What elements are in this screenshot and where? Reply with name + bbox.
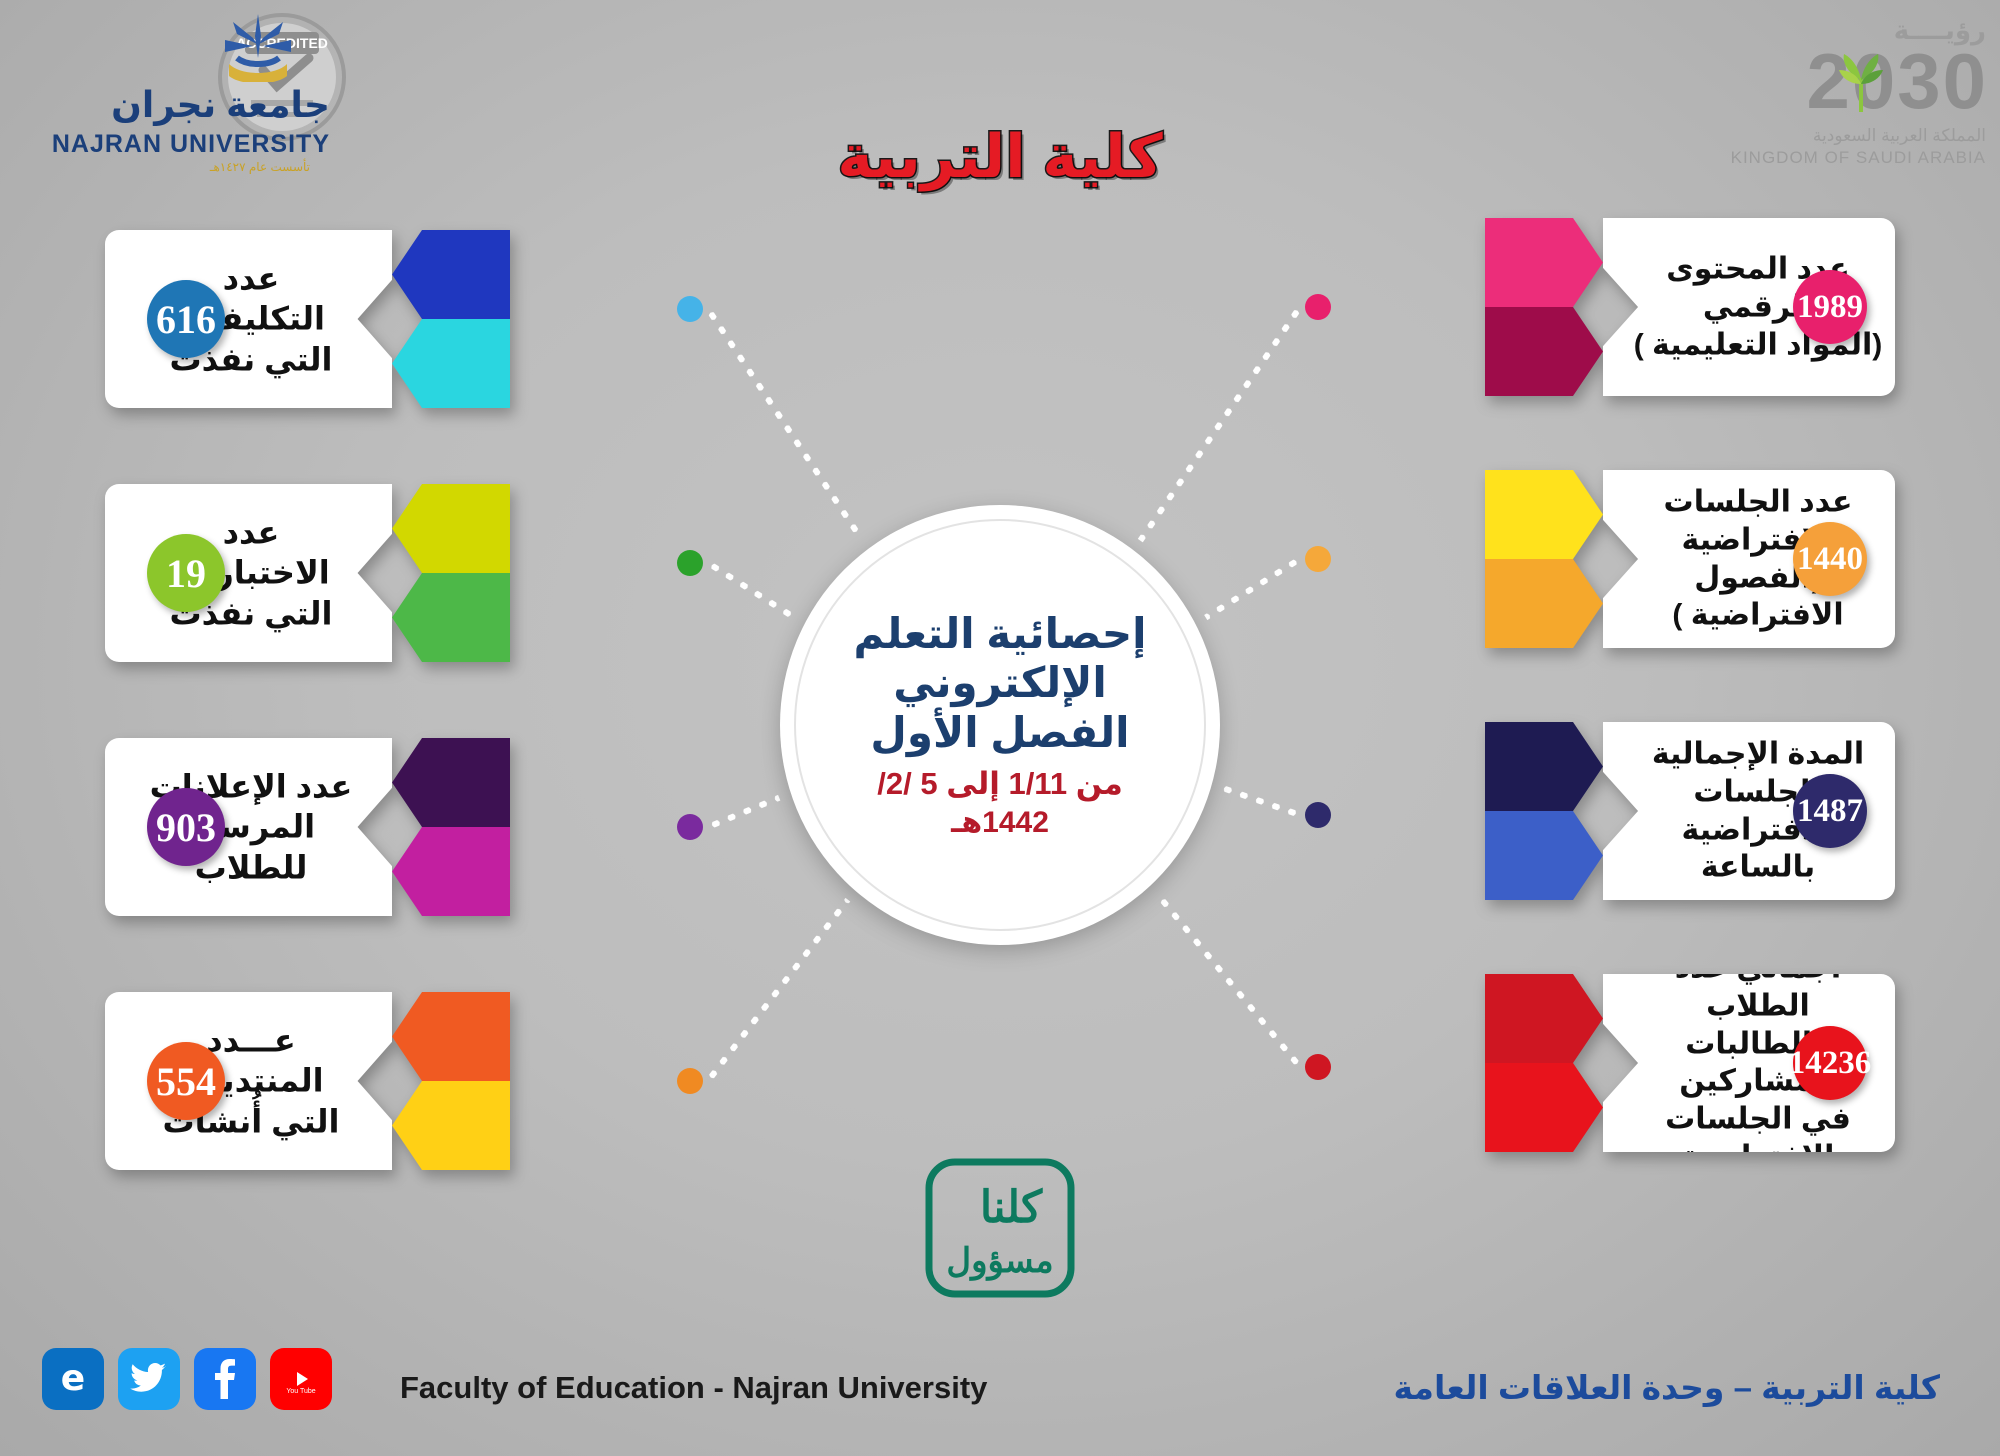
vision-sub-arabic: المملكة العربية السعودية	[1813, 126, 1986, 146]
chevron-accent-icon	[392, 484, 510, 662]
stat-card-value-badge: 1440	[1793, 522, 1867, 596]
university-name-english: NAJRAN UNIVERSITY	[52, 130, 330, 159]
vision-2030-logo: رؤيــــة 2030 المملكة العربية السعودية K…	[1712, 8, 1992, 168]
connector-line	[707, 795, 781, 830]
twitter-bird-glyph	[130, 1362, 168, 1396]
stat-card-body: المدة الإجمالية للجلسات الافتراضية بالسا…	[1603, 722, 1895, 900]
stat-card-value-badge: 903	[147, 788, 225, 866]
connector-line	[1222, 785, 1301, 817]
footer-english-text: Faculty of Education - Najran University	[400, 1370, 987, 1406]
stat-card[interactable]: عدد الجلسات الافتراضية (الفصول الافتراضي…	[1485, 470, 1895, 648]
twitter-icon[interactable]	[118, 1348, 180, 1410]
stat-card[interactable]: أجمالي عدد الطلاب والطالبات المشاركين في…	[1485, 974, 1895, 1152]
stat-card[interactable]: عدد التكليفات التي نفذت616	[105, 230, 510, 408]
stat-card-body: عـــدد المنتديات التي أُنشأت554	[105, 992, 392, 1170]
center-line-3: الفصل الأول	[870, 708, 1129, 758]
stat-card-value-badge: 616	[147, 280, 225, 358]
stat-card-body: عدد التكليفات التي نفذت616	[105, 230, 392, 408]
connector-line	[1138, 305, 1302, 542]
connector-dot-right-3	[1305, 802, 1331, 828]
edge-icon[interactable]: e	[42, 1348, 104, 1410]
stat-card-value-badge: 14236	[1793, 1026, 1867, 1100]
stat-card-body: عدد الإعلانات المرسلة للطلاب903	[105, 738, 392, 916]
connector-dot-left-3	[677, 814, 703, 840]
connector-dot-right-1	[1305, 294, 1331, 320]
stat-card-value-badge: 554	[147, 1042, 225, 1120]
connector-line	[706, 560, 796, 620]
center-summary-circle: إحصائية التعلم الإلكتروني الفصل الأول من…	[780, 505, 1220, 945]
chevron-accent-icon	[392, 738, 510, 916]
chevron-accent-icon	[1485, 470, 1603, 648]
stat-card[interactable]: عـــدد المنتديات التي أُنشأت554	[105, 992, 510, 1170]
chevron-accent-icon	[1485, 974, 1603, 1152]
connector-dot-left-2	[677, 550, 703, 576]
chevron-accent-icon	[392, 230, 510, 408]
connector-dot-left-4	[677, 1068, 703, 1094]
stat-card-value-badge: 19	[147, 534, 225, 612]
chevron-accent-icon	[1485, 722, 1603, 900]
chevron-accent-icon	[1485, 218, 1603, 396]
svg-text:مسؤول: مسؤول	[946, 1242, 1053, 1281]
stat-card[interactable]: عدد الإعلانات المرسلة للطلاب903	[105, 738, 510, 916]
connector-dot-left-1	[677, 296, 703, 322]
najran-emblem-icon	[8, 10, 338, 82]
svg-text:You Tube: You Tube	[286, 1388, 315, 1395]
facebook-f-glyph	[214, 1359, 236, 1399]
connector-dot-right-4	[1305, 1054, 1331, 1080]
university-name-arabic: جامعة نجران	[111, 84, 330, 126]
connector-line	[1156, 893, 1303, 1069]
connector-line	[706, 898, 850, 1083]
chevron-accent-icon	[392, 992, 510, 1170]
footer-arabic-text: كلية التربية – وحدة العلاقات العامة	[1394, 1368, 1940, 1407]
vision-sub-english: KINGDOM OF SAUDI ARABIA	[1731, 148, 1986, 168]
connector-line	[706, 307, 864, 540]
stat-card[interactable]: المدة الإجمالية للجلسات الافتراضية بالسا…	[1485, 722, 1895, 900]
kollona-masoul-logo: كلنا مسؤول	[915, 1148, 1085, 1308]
stat-card-value-badge: 1989	[1793, 270, 1867, 344]
stat-card[interactable]: عدد الاختبارات التي نفذت19	[105, 484, 510, 662]
center-date-range: من 1/11 إلى 5 /2/	[877, 765, 1123, 804]
palm-tree-icon	[1834, 48, 1888, 114]
page-title: كلية التربية	[740, 122, 1260, 192]
stat-card-value-badge: 1487	[1793, 774, 1867, 848]
stat-card-body: عدد المحتوى الرقمي (المواد التعليمية )19…	[1603, 218, 1895, 396]
svg-text:كلنا: كلنا	[980, 1183, 1043, 1232]
youtube-icon[interactable]: You Tube	[270, 1348, 332, 1410]
connector-dot-right-2	[1305, 546, 1331, 572]
center-line-2: الإلكتروني	[893, 658, 1107, 708]
university-founded-label: تأسست عام ١٤٢٧هـ	[210, 160, 310, 174]
facebook-icon[interactable]	[194, 1348, 256, 1410]
center-hijri-year: 1442هـ	[951, 804, 1049, 842]
youtube-play-glyph: You Tube	[278, 1362, 324, 1396]
stat-card-body: عدد الاختبارات التي نفذت19	[105, 484, 392, 662]
connector-line	[1204, 556, 1301, 620]
stat-card[interactable]: عدد المحتوى الرقمي (المواد التعليمية )19…	[1485, 218, 1895, 396]
najran-university-logo: جامعة نجران NAJRAN UNIVERSITY تأسست عام …	[8, 10, 338, 160]
stat-card-body: عدد الجلسات الافتراضية (الفصول الافتراضي…	[1603, 470, 1895, 648]
center-line-1: إحصائية التعلم	[854, 609, 1147, 659]
edge-glyph: e	[61, 1361, 85, 1397]
stat-card-body: أجمالي عدد الطلاب والطالبات المشاركين في…	[1603, 974, 1895, 1152]
